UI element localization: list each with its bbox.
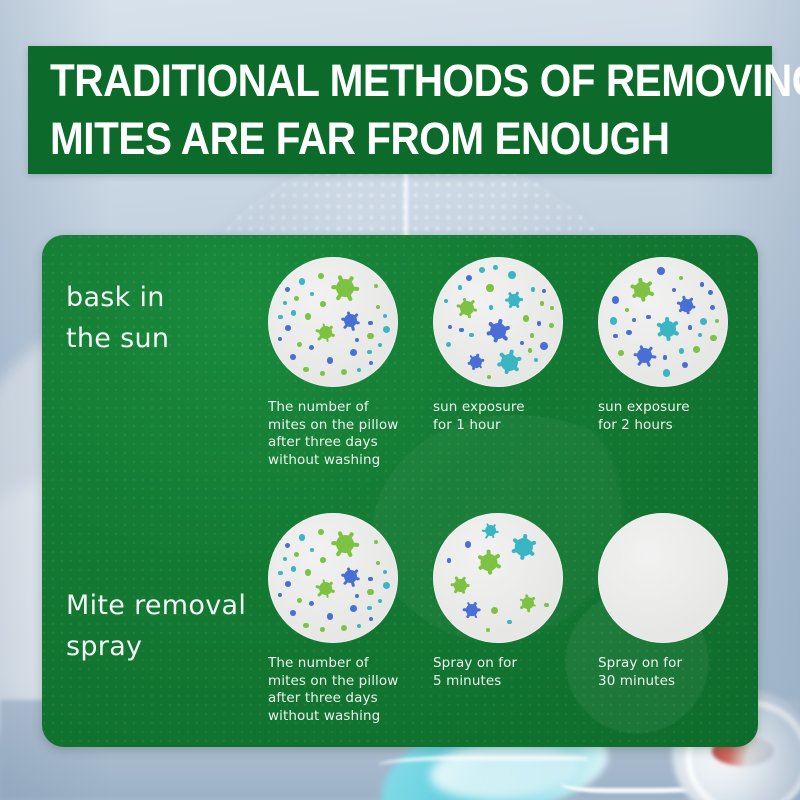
mite-speck: [310, 292, 314, 296]
mite-speck: [444, 299, 448, 303]
mite-speck: [278, 315, 282, 319]
mite-speck: [682, 362, 688, 368]
mite-organism: [632, 280, 653, 301]
petri-dish-spray-5-minutes: [433, 513, 563, 643]
mite-speck: [327, 613, 333, 619]
mite-speck: [383, 326, 390, 333]
caption-spray-30-minutes: Spray on for 30 minutes: [598, 655, 758, 690]
mite-speck: [297, 598, 302, 603]
mite-speck: [278, 571, 282, 575]
mite-organism: [463, 602, 479, 618]
mite-organism: [486, 319, 509, 342]
mite-speck: [542, 289, 546, 293]
mite-speck: [646, 315, 651, 320]
mite-speck: [613, 334, 617, 338]
mite-speck: [291, 566, 297, 572]
mite-speck: [285, 581, 291, 587]
mite-organism: [342, 569, 358, 585]
mite-organism: [636, 347, 653, 364]
mite-speck: [383, 570, 387, 574]
mite-speck: [305, 569, 312, 576]
caption-spray-baseline: The number of mites on the pillow after …: [268, 655, 436, 725]
mite-speck: [618, 350, 624, 356]
mite-speck: [383, 314, 387, 318]
caption-spray-5-minutes: Spray on for 5 minutes: [433, 655, 601, 690]
mite-speck: [530, 333, 535, 338]
mite-organism: [497, 351, 521, 375]
mite-speck: [341, 369, 347, 375]
row-bask-in-the-sun: bask in the sun The number of mites on t…: [42, 235, 758, 491]
mite-speck: [491, 607, 498, 614]
mite-speck: [355, 594, 359, 598]
mite-speck: [369, 361, 373, 365]
mite-speck: [612, 296, 619, 303]
headline-banner: TRADITIONAL METHODS OF REMOVING MITES AR…: [28, 46, 772, 174]
caption-sun-2-hours: sun exposure for 2 hours: [598, 399, 758, 434]
mite-speck: [663, 355, 667, 359]
mite-speck: [309, 345, 314, 350]
mite-speck: [294, 296, 299, 301]
headline-line-2: MITES ARE FAR FROM ENOUGH: [50, 110, 680, 168]
mite-speck: [374, 284, 378, 288]
comparison-card: bask in the sun The number of mites on t…: [42, 235, 758, 747]
mite-speck: [297, 342, 302, 347]
mite-organism: [317, 581, 333, 597]
mite-speck: [376, 561, 380, 565]
mite-organism: [467, 354, 483, 370]
mite-speck: [285, 325, 291, 331]
mite-speck: [486, 628, 490, 632]
mite-speck: [355, 338, 359, 342]
headline-line-1: TRADITIONAL METHODS OF REMOVING: [50, 52, 680, 110]
mite-speck: [303, 367, 309, 373]
mite-organism: [483, 523, 498, 538]
mite-speck: [679, 348, 685, 354]
mite-speck: [710, 305, 715, 310]
mite-speck: [367, 333, 373, 339]
mite-organism: [317, 325, 333, 341]
mite-organism: [521, 595, 536, 610]
cell-sun-baseline: The number of mites on the pillow after …: [266, 257, 426, 387]
cell-spray-30-minutes: Spray on for 30 minutes: [596, 513, 756, 643]
mite-speck: [290, 610, 296, 616]
mite-speck: [367, 606, 372, 611]
mite-speck: [303, 623, 309, 629]
mite-speck: [299, 278, 305, 284]
mite-speck: [305, 313, 312, 320]
mite-organism: [458, 299, 475, 316]
mite-speck: [285, 287, 290, 292]
mite-speck: [357, 368, 361, 372]
mite-organism: [506, 291, 523, 308]
mite-speck: [283, 557, 287, 561]
petri-dish-spray-30-minutes: [598, 513, 728, 643]
caption-sun-baseline: The number of mites on the pillow after …: [268, 399, 436, 469]
mite-speck: [378, 343, 382, 347]
mite-organism: [336, 534, 356, 554]
mite-speck: [610, 317, 618, 325]
petri-dish-spray-baseline: [268, 513, 398, 643]
cell-spray-baseline: The number of mites on the pillow after …: [266, 513, 426, 643]
mite-speck: [688, 325, 692, 329]
mite-speck: [710, 335, 717, 342]
mite-organism: [336, 278, 356, 298]
cell-sun-2-hours: sun exposure for 2 hours: [596, 257, 756, 387]
mite-speck: [341, 625, 347, 631]
mite-speck: [357, 624, 361, 628]
mite-speck: [320, 301, 326, 307]
mite-speck: [350, 349, 357, 356]
mite-speck: [299, 534, 305, 540]
mite-speck: [469, 333, 473, 337]
mite-organism: [342, 313, 358, 329]
mite-speck: [448, 325, 452, 329]
mite-organism: [679, 297, 694, 312]
mite-speck: [663, 369, 670, 376]
mite-speck: [376, 305, 380, 309]
mite-organism: [481, 553, 499, 571]
mite-speck: [479, 267, 485, 273]
petri-dish-sun-1-hour: [433, 257, 563, 387]
mite-speck: [487, 375, 491, 379]
mite-speck: [672, 288, 676, 292]
mite-speck: [625, 308, 629, 312]
mite-speck: [550, 306, 554, 310]
mite-speck: [486, 284, 494, 292]
mite-speck: [318, 273, 325, 280]
mite-speck: [540, 301, 544, 305]
mite-speck: [632, 318, 637, 323]
mite-speck: [531, 287, 535, 291]
mite-speck: [320, 371, 325, 376]
mite-speck: [544, 603, 548, 607]
mite-speck: [367, 589, 373, 595]
mite-speck: [534, 358, 538, 362]
mite-speck: [291, 310, 297, 316]
mite-speck: [679, 276, 683, 280]
mite-speck: [320, 627, 325, 632]
mite-speck: [310, 548, 314, 552]
mite-speck: [294, 552, 299, 557]
mite-speck: [318, 529, 325, 536]
mite-speck: [657, 267, 665, 275]
mite-speck: [507, 620, 511, 624]
row-mite-removal-spray: Mite removal spray The number of mites o…: [42, 491, 758, 747]
mite-speck: [378, 599, 382, 603]
mite-speck: [369, 617, 373, 621]
mite-speck: [537, 321, 541, 325]
mite-speck: [549, 323, 554, 328]
mite-speck: [278, 337, 282, 341]
mite-speck: [459, 328, 464, 333]
cell-spray-5-minutes: Spray on for 5 minutes: [431, 513, 591, 643]
mite-speck: [715, 319, 719, 323]
mite-speck: [626, 330, 632, 336]
mite-speck: [540, 342, 548, 350]
mite-organism: [454, 579, 467, 592]
mite-speck: [368, 577, 372, 581]
mite-organism: [657, 318, 678, 339]
mite-speck: [523, 315, 530, 322]
petri-dish-sun-baseline: [268, 257, 398, 387]
caption-sun-1-hour: sun exposure for 1 hour: [433, 399, 601, 434]
infographic-canvas: TRADITIONAL METHODS OF REMOVING MITES AR…: [0, 0, 800, 800]
mite-speck: [290, 354, 296, 360]
mite-speck: [493, 265, 498, 270]
mite-speck: [320, 557, 326, 563]
mite-speck: [350, 605, 357, 612]
mite-speck: [458, 285, 462, 289]
mite-speck: [698, 333, 702, 337]
mite-speck: [368, 321, 372, 325]
mite-speck: [283, 301, 287, 305]
mite-speck: [447, 558, 451, 562]
mite-speck: [693, 346, 700, 353]
mite-speck: [528, 348, 532, 352]
row-label-bask-in-the-sun: bask in the sun: [66, 277, 276, 359]
mite-organism: [511, 534, 536, 559]
mite-speck: [520, 341, 524, 345]
mite-speck: [374, 540, 378, 544]
mite-speck: [700, 318, 707, 325]
mite-speck: [327, 357, 333, 363]
mite-speck: [508, 271, 516, 279]
mite-speck: [700, 282, 704, 286]
petri-dish-sun-2-hours: [598, 257, 728, 387]
mite-speck: [285, 543, 290, 548]
mite-speck: [708, 290, 713, 295]
mite-speck: [309, 601, 314, 606]
mite-speck: [278, 593, 282, 597]
mite-speck: [465, 541, 471, 547]
cell-sun-1-hour: sun exposure for 1 hour: [431, 257, 591, 387]
mite-speck: [367, 350, 372, 355]
mite-speck: [446, 342, 451, 347]
mite-speck: [383, 582, 390, 589]
mite-speck: [489, 305, 494, 310]
row-label-mite-removal-spray: Mite removal spray: [66, 585, 276, 667]
mite-speck: [466, 275, 472, 281]
